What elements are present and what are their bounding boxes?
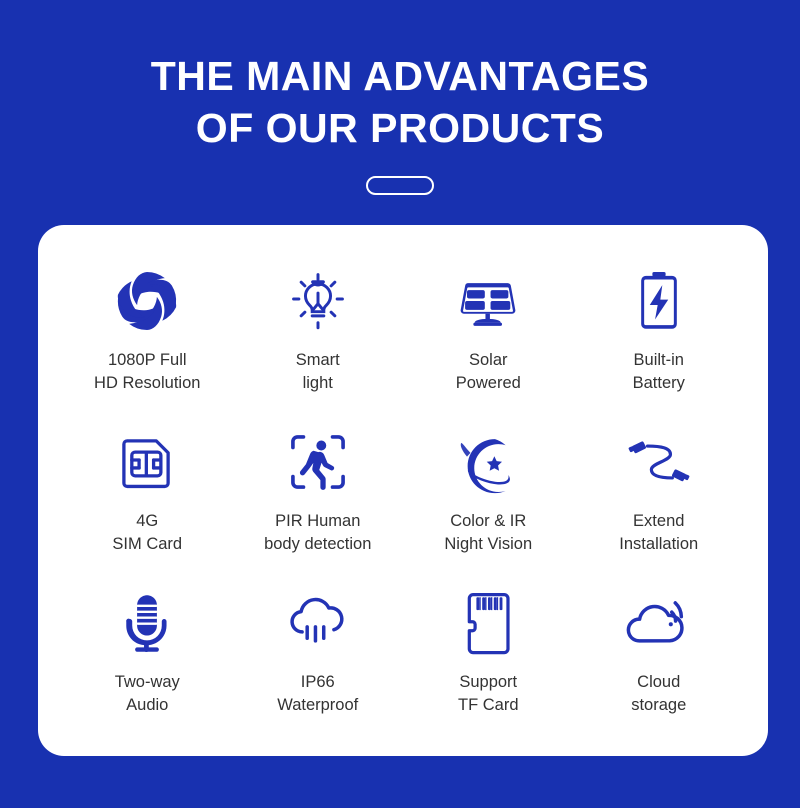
feature-label: Built-in Battery (633, 349, 685, 395)
human-detection-icon (285, 426, 351, 498)
feature-item-color-ir-night-vision: Color & IR Night Vision (403, 414, 574, 575)
page-title-line-2: OF OUR PRODUCTS (0, 102, 800, 154)
feature-item-two-way-audio: Two-way Audio (62, 575, 233, 736)
feature-label: Support TF Card (458, 671, 519, 717)
moon-star-icon (453, 426, 523, 498)
page-title-line-1: THE MAIN ADVANTAGES (0, 50, 800, 102)
tf-card-icon (459, 587, 517, 659)
feature-label: Smart light (296, 349, 340, 395)
feature-item-cloud-storage: Cloud storage (574, 575, 745, 736)
features-grid: 1080P Full HD Resolution (62, 253, 744, 736)
page-title: THE MAIN ADVANTAGES OF OUR PRODUCTS (0, 50, 800, 154)
sim-card-icon (114, 426, 180, 498)
feature-item-built-in-battery: Built-in Battery (574, 253, 745, 414)
feature-label: IP66 Waterproof (277, 671, 358, 717)
feature-label: Extend Installation (619, 510, 698, 556)
battery-icon (626, 265, 692, 337)
rain-cloud-icon (283, 587, 353, 659)
solar-panel-icon (453, 265, 523, 337)
cloud-wifi-icon (622, 587, 696, 659)
aperture-icon (114, 265, 180, 337)
feature-label: 1080P Full HD Resolution (94, 349, 200, 395)
page-header: THE MAIN ADVANTAGES OF OUR PRODUCTS (0, 0, 800, 195)
feature-label: Color & IR Night Vision (444, 510, 532, 556)
feature-label: 4G SIM Card (112, 510, 182, 556)
feature-label: Two-way Audio (115, 671, 180, 717)
feature-label: PIR Human body detection (264, 510, 371, 556)
cable-icon (624, 426, 694, 498)
microphone-icon (114, 587, 180, 659)
pill-divider-icon (366, 176, 434, 195)
feature-item-ip66-waterproof: IP66 Waterproof (233, 575, 404, 736)
feature-item-extend-installation: Extend Installation (574, 414, 745, 575)
light-bulb-icon (285, 265, 351, 337)
feature-item-pir-human-body-detection: PIR Human body detection (233, 414, 404, 575)
feature-item-solar-powered: Solar Powered (403, 253, 574, 414)
feature-item-smart-light: Smart light (233, 253, 404, 414)
feature-label: Cloud storage (631, 671, 686, 717)
feature-item-1080p-full-hd-resolution: 1080P Full HD Resolution (62, 253, 233, 414)
feature-item-support-tf-card: Support TF Card (403, 575, 574, 736)
feature-item-4g-sim-card: 4G SIM Card (62, 414, 233, 575)
advantages-page: THE MAIN ADVANTAGES OF OUR PRODUCTS (0, 0, 800, 808)
title-divider (0, 176, 800, 195)
features-card: 1080P Full HD Resolution (38, 225, 768, 756)
feature-label: Solar Powered (456, 349, 521, 395)
